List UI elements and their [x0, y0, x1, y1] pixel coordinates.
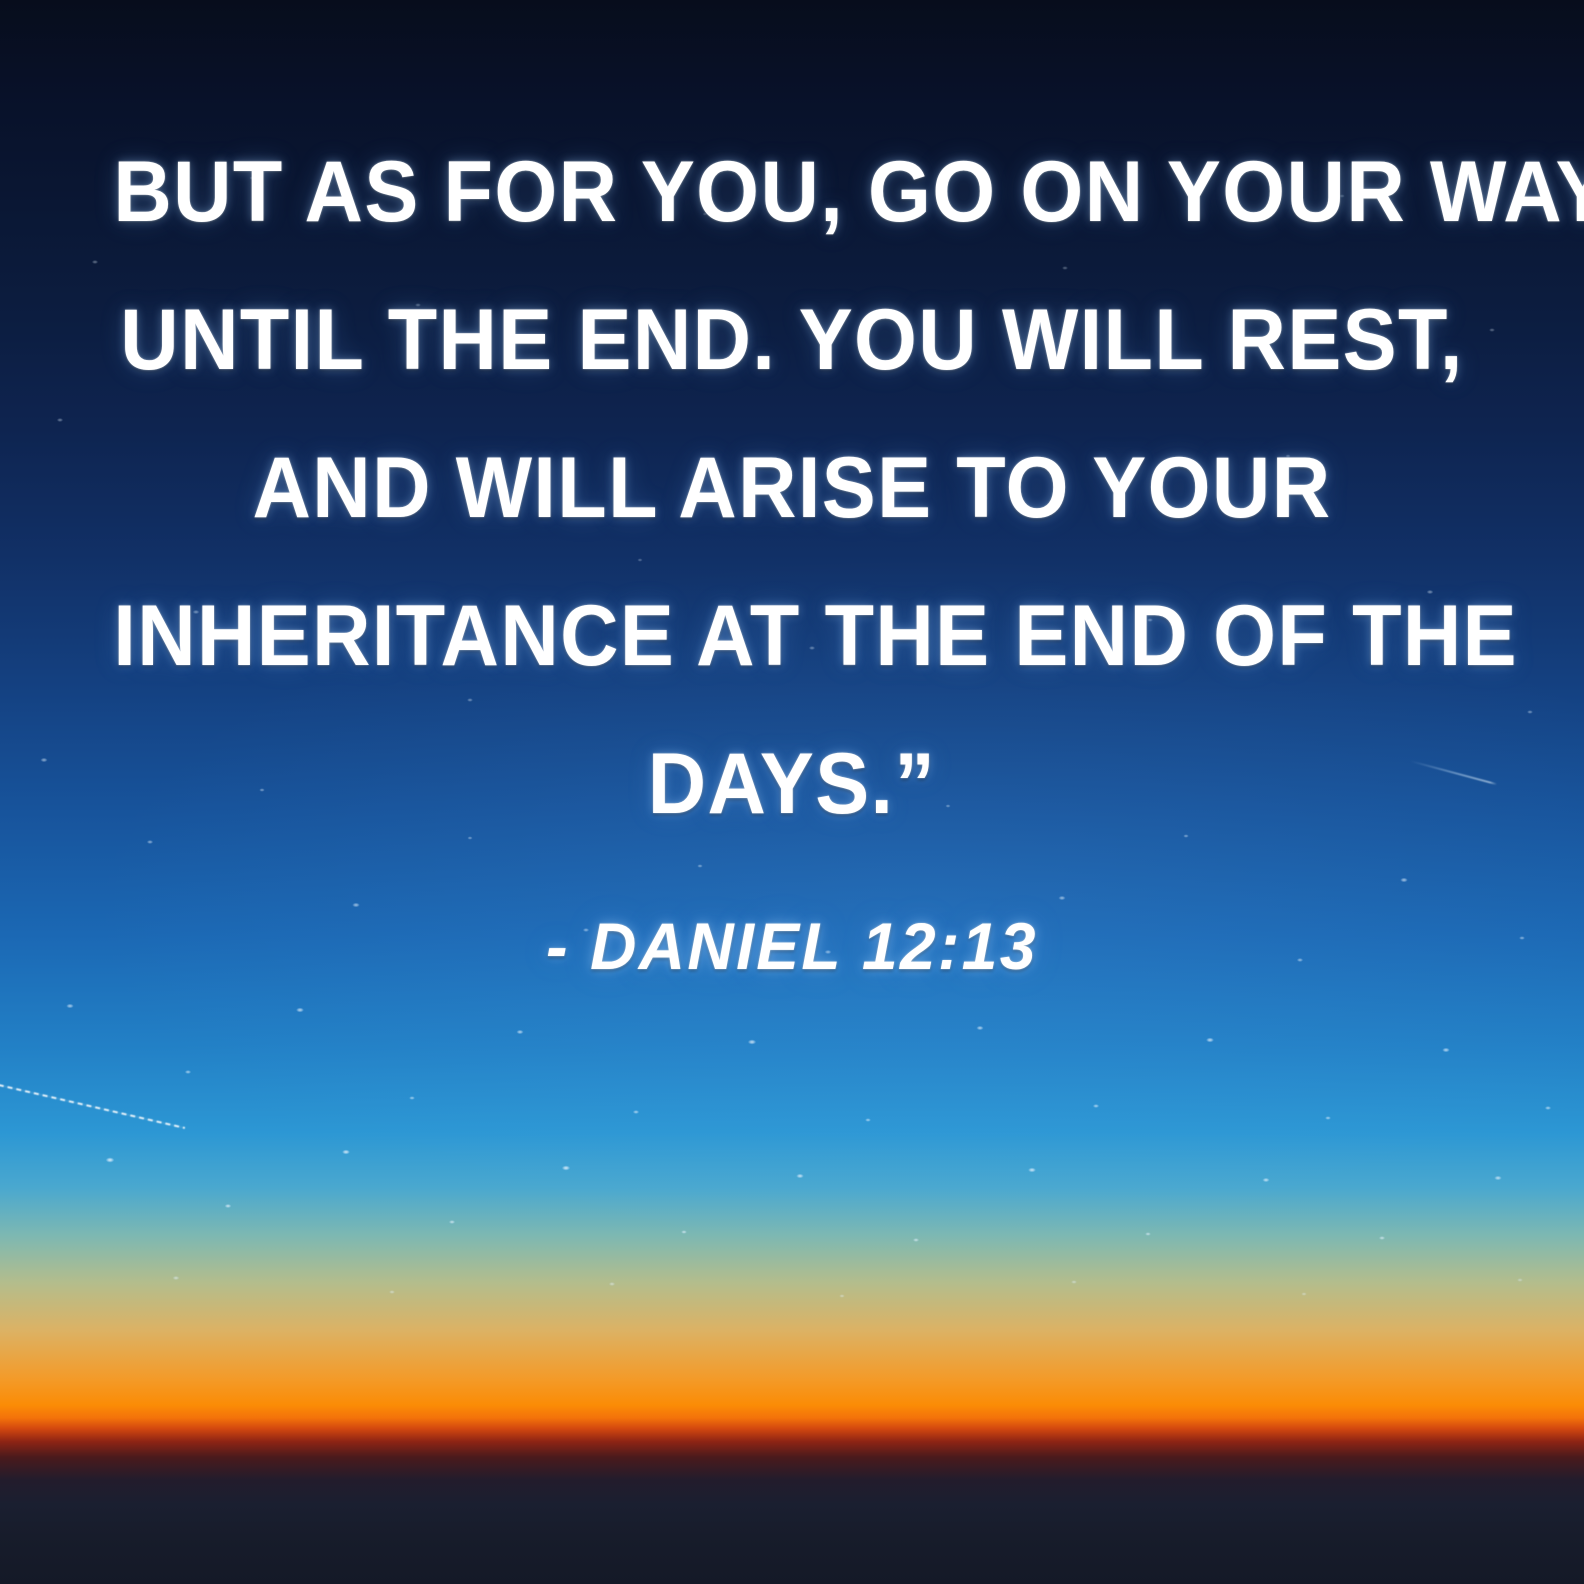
- quote-card: But as for you, go on your way until the…: [0, 0, 1584, 1584]
- verse-line-5: days.”: [113, 710, 1470, 858]
- verse-line-3: and will arise to your: [113, 414, 1470, 562]
- verse-quote-block: But as for you, go on your way until the…: [0, 118, 1584, 984]
- verse-attribution: - Daniel 12:13: [92, 908, 1493, 984]
- verse-line-4: inheritance at the end of the: [113, 562, 1470, 710]
- verse-line-2: until the end. You will rest,: [113, 266, 1470, 414]
- verse-line-1: But as for you, go on your way: [113, 118, 1470, 266]
